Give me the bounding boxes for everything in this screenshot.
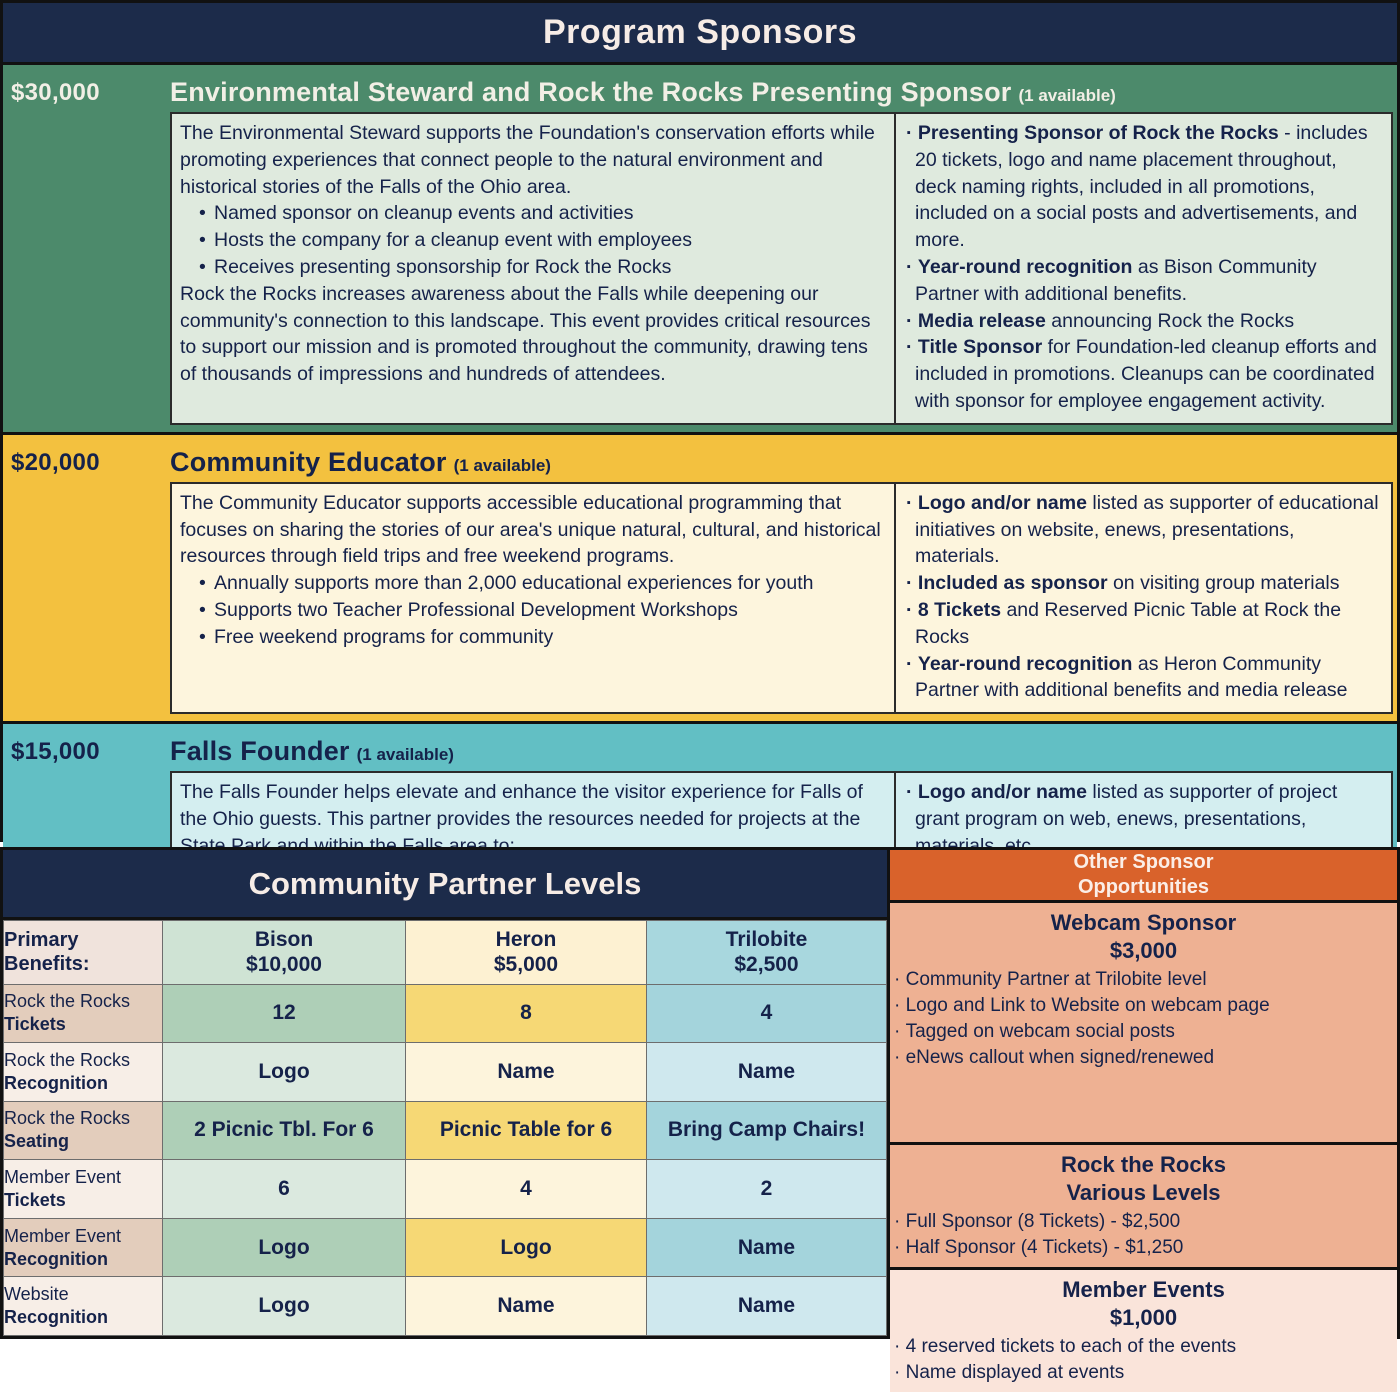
- cell-trilobite: Name: [647, 1218, 887, 1277]
- list-item: Tagged on webcam social posts: [894, 1019, 1391, 1045]
- cell-heron: Logo: [406, 1218, 647, 1277]
- webcam-sponsor-block: Webcam Sponsor $3,000 Community Partner …: [890, 903, 1397, 1145]
- block-title-line1: Rock the Rocks: [1061, 1152, 1226, 1177]
- list-item: Year-round recognition as Heron Communit…: [906, 651, 1383, 705]
- list-item: Annually supports more than 2,000 educat…: [214, 570, 886, 597]
- tier-heading: Falls Founder (1 available): [160, 724, 1397, 771]
- tier-body: Environmental Steward and Rock the Rocks…: [160, 65, 1397, 432]
- cell-heron: 4: [406, 1160, 647, 1219]
- tier-description: The Environmental Steward supports the F…: [172, 114, 896, 423]
- block-title: Webcam Sponsor $3,000: [890, 909, 1397, 965]
- tier-description-intro: The Community Educator supports accessib…: [180, 490, 886, 570]
- page-title: Program Sponsors: [3, 3, 1397, 65]
- cell-bison: 6: [163, 1160, 406, 1219]
- table-row: Member Event Tickets 6 4 2: [4, 1160, 887, 1219]
- block-item-list: Community Partner at Trilobite level Log…: [890, 967, 1397, 1071]
- cell-bison: Logo: [163, 1218, 406, 1277]
- row-label-bottom: Recognition: [4, 1306, 162, 1329]
- list-item: Full Sponsor (8 Tickets) - $2,500: [894, 1209, 1391, 1235]
- row-label-bottom: Tickets: [4, 1189, 162, 1212]
- table-row: Website Recognition Logo Name Name: [4, 1277, 887, 1336]
- primary-benefits-line2: Benefits:: [4, 953, 90, 975]
- list-item: Hosts the company for a cleanup event wi…: [214, 227, 886, 254]
- list-item: Supports two Teacher Professional Develo…: [214, 597, 886, 624]
- table-row: Rock the Rocks Recognition Logo Name Nam…: [4, 1043, 887, 1102]
- tier-heading: Environmental Steward and Rock the Rocks…: [160, 65, 1397, 112]
- table-row: Rock the Rocks Tickets 12 8 4: [4, 984, 887, 1043]
- tier-heading: Community Educator (1 available): [160, 435, 1397, 482]
- column-header-heron: Heron $5,000: [406, 921, 647, 985]
- list-item: eNews callout when signed/renewed: [894, 1045, 1391, 1071]
- cell-heron: 8: [406, 984, 647, 1043]
- row-label-top: Member Event: [4, 1226, 121, 1246]
- tier-bullet-list: Annually supports more than 2,000 educat…: [180, 570, 886, 650]
- row-label: Member Event Tickets: [4, 1160, 163, 1219]
- column-name: Bison: [255, 928, 313, 951]
- cell-bison: Logo: [163, 1043, 406, 1102]
- list-item: 4 reserved tickets to each of the events: [894, 1334, 1391, 1360]
- column-amount: $5,000: [494, 953, 558, 976]
- block-title: Rock the Rocks Various Levels: [890, 1151, 1397, 1207]
- column-name: Heron: [496, 928, 557, 951]
- program-sponsors-panel: Program Sponsors $30,000 Environmental S…: [0, 0, 1400, 842]
- list-item: Name displayed at events: [894, 1360, 1391, 1386]
- tier-benefit-list: Logo and/or name listed as supporter of …: [906, 490, 1383, 704]
- column-amount: $2,500: [734, 953, 798, 976]
- benefit-lead: 8 Tickets: [918, 599, 1001, 621]
- other-sponsor-title: Other Sponsor Opportunities: [890, 850, 1397, 903]
- cell-trilobite: Bring Camp Chairs!: [647, 1101, 887, 1160]
- tier-price: $30,000: [3, 65, 160, 432]
- row-label: Rock the Rocks Tickets: [4, 984, 163, 1043]
- benefit-rest: on visiting group materials: [1108, 572, 1340, 594]
- levels-table: Primary Benefits: Bison $10,000 Heron $5…: [3, 920, 887, 1336]
- tier-benefits: Logo and/or name listed as supporter of …: [896, 484, 1391, 712]
- block-title-line2: $1,000: [1110, 1305, 1177, 1330]
- row-label-top: Rock the Rocks: [4, 991, 130, 1011]
- sponsor-tier-environmental-steward: $30,000 Environmental Steward and Rock t…: [3, 65, 1397, 435]
- benefit-lead: Logo and/or name: [918, 492, 1087, 514]
- tier-bullet-list: Named sponsor on cleanup events and acti…: [180, 200, 886, 280]
- tier-name: Environmental Steward and Rock the Rocks…: [170, 77, 1011, 108]
- row-label-bottom: Recognition: [4, 1072, 162, 1095]
- list-item: Title Sponsor for Foundation-led cleanup…: [906, 334, 1383, 414]
- primary-benefits-header: Primary Benefits:: [4, 921, 163, 985]
- column-name: Trilobite: [726, 928, 808, 951]
- cell-trilobite: Name: [647, 1277, 887, 1336]
- sponsor-tier-community-educator: $20,000 Community Educator (1 available)…: [3, 435, 1397, 724]
- cell-trilobite: 2: [647, 1160, 887, 1219]
- row-label-top: Rock the Rocks: [4, 1050, 130, 1070]
- row-label-top: Website: [4, 1284, 69, 1304]
- row-label-bottom: Recognition: [4, 1248, 162, 1271]
- cell-heron: Name: [406, 1277, 647, 1336]
- member-events-block: Member Events $1,000 4 reserved tickets …: [890, 1270, 1397, 1392]
- tier-description-outro: Rock the Rocks increases awareness about…: [180, 281, 886, 388]
- list-item: Logo and/or name listed as supporter of …: [906, 490, 1383, 570]
- list-item: 8 Tickets and Reserved Picnic Table at R…: [906, 597, 1383, 651]
- cell-trilobite: Name: [647, 1043, 887, 1102]
- tier-content: The Community Educator supports accessib…: [170, 482, 1393, 714]
- cell-heron: Picnic Table for 6: [406, 1101, 647, 1160]
- benefit-lead: Included as sponsor: [918, 572, 1108, 594]
- benefit-lead: Media release: [918, 310, 1046, 332]
- cell-trilobite: 4: [647, 984, 887, 1043]
- tier-benefits: Presenting Sponsor of Rock the Rocks - i…: [896, 114, 1391, 423]
- cell-heron: Name: [406, 1043, 647, 1102]
- block-item-list: Full Sponsor (8 Tickets) - $2,500 Half S…: [890, 1209, 1397, 1261]
- block-title-line1: Webcam Sponsor: [1051, 910, 1236, 935]
- row-label: Rock the Rocks Seating: [4, 1101, 163, 1160]
- tier-availability: (1 available): [454, 456, 551, 476]
- benefit-rest: announcing Rock the Rocks: [1046, 310, 1294, 332]
- tier-description: The Community Educator supports accessib…: [172, 484, 896, 712]
- tier-description-intro: The Environmental Steward supports the F…: [180, 120, 886, 200]
- levels-title: Community Partner Levels: [3, 850, 887, 920]
- list-item: Year-round recognition as Bison Communit…: [906, 254, 1383, 308]
- tier-availability: (1 available): [357, 745, 454, 765]
- community-partner-levels-panel: Community Partner Levels Primary Benefit…: [0, 847, 1400, 1339]
- row-label-bottom: Seating: [4, 1130, 162, 1153]
- row-label-bottom: Tickets: [4, 1013, 162, 1036]
- benefit-lead: Year-round recognition: [918, 653, 1133, 675]
- list-item: Half Sponsor (4 Tickets) - $1,250: [894, 1235, 1391, 1261]
- block-title-line2: Various Levels: [1066, 1180, 1220, 1205]
- cell-bison: 2 Picnic Tbl. For 6: [163, 1101, 406, 1160]
- table-row: Rock the Rocks Seating 2 Picnic Tbl. For…: [4, 1101, 887, 1160]
- list-item: Media release announcing Rock the Rocks: [906, 308, 1383, 335]
- row-label: Member Event Recognition: [4, 1218, 163, 1277]
- primary-benefits-line1: Primary: [4, 929, 79, 951]
- column-amount: $10,000: [246, 953, 322, 976]
- block-item-list: 4 reserved tickets to each of the events…: [890, 1334, 1397, 1386]
- row-label-top: Rock the Rocks: [4, 1108, 130, 1128]
- row-label: Rock the Rocks Recognition: [4, 1043, 163, 1102]
- cell-bison: 12: [163, 984, 406, 1043]
- benefit-lead: Presenting Sponsor of Rock the Rocks: [918, 122, 1279, 144]
- rock-the-rocks-block: Rock the Rocks Various Levels Full Spons…: [890, 1145, 1397, 1270]
- tier-benefit-list: Presenting Sponsor of Rock the Rocks - i…: [906, 120, 1383, 415]
- table-row: Member Event Recognition Logo Logo Name: [4, 1218, 887, 1277]
- block-title-line1: Member Events: [1062, 1277, 1225, 1302]
- other-sponsor-opportunities: Other Sponsor Opportunities Webcam Spons…: [890, 850, 1397, 1336]
- list-item: Logo and Link to Website on webcam page: [894, 993, 1391, 1019]
- block-title: Member Events $1,000: [890, 1276, 1397, 1332]
- benefit-lead: Logo and/or name: [918, 781, 1087, 803]
- column-header-trilobite: Trilobite $2,500: [647, 921, 887, 985]
- column-header-bison: Bison $10,000: [163, 921, 406, 985]
- tier-name: Falls Founder: [170, 736, 350, 767]
- tier-content: The Environmental Steward supports the F…: [170, 112, 1393, 425]
- list-item: Free weekend programs for community: [214, 624, 886, 651]
- row-label: Website Recognition: [4, 1277, 163, 1336]
- tier-name: Community Educator: [170, 447, 447, 478]
- cell-bison: Logo: [163, 1277, 406, 1336]
- tier-body: Community Educator (1 available) The Com…: [160, 435, 1397, 721]
- other-sponsor-title-line2: Opportunities: [1078, 875, 1209, 900]
- list-item: Presenting Sponsor of Rock the Rocks - i…: [906, 120, 1383, 254]
- tier-availability: (1 available): [1018, 86, 1115, 106]
- row-label-top: Member Event: [4, 1167, 121, 1187]
- list-item: Community Partner at Trilobite level: [894, 967, 1391, 993]
- other-sponsor-title-line1: Other Sponsor: [1073, 850, 1213, 875]
- list-item: Named sponsor on cleanup events and acti…: [214, 200, 886, 227]
- list-item: Included as sponsor on visiting group ma…: [906, 570, 1383, 597]
- benefit-lead: Year-round recognition: [918, 256, 1133, 278]
- levels-table-wrapper: Community Partner Levels Primary Benefit…: [3, 850, 890, 1336]
- benefit-lead: Title Sponsor: [918, 336, 1042, 358]
- table-header-row: Primary Benefits: Bison $10,000 Heron $5…: [4, 921, 887, 985]
- tier-price: $20,000: [3, 435, 160, 721]
- list-item: Receives presenting sponsorship for Rock…: [214, 254, 886, 281]
- block-title-line2: $3,000: [1110, 938, 1177, 963]
